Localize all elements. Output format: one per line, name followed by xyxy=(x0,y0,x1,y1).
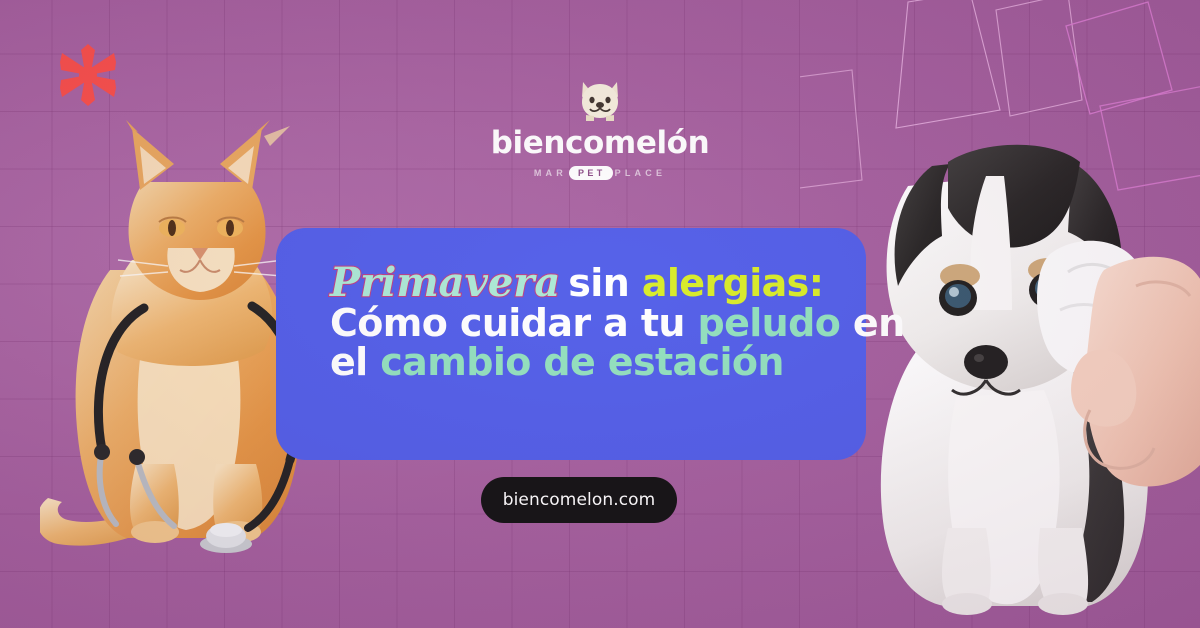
website-url-badge[interactable]: biencomelon.com xyxy=(481,477,677,523)
headline-script-word: Primavera xyxy=(330,259,560,306)
headline-line3-white: el xyxy=(330,340,368,384)
headline-line1-white: sin xyxy=(568,261,629,305)
brand-logo[interactable]: biencomelón MAR PET PLACE xyxy=(0,78,1200,180)
logo-tagline: MAR PET PLACE xyxy=(0,166,1200,180)
promo-banner: biencomelón MAR PET PLACE Primaverasin a… xyxy=(0,0,1200,628)
logo-wordmark: biencomelón xyxy=(0,128,1200,159)
bulldog-face-icon xyxy=(577,78,623,122)
headline-text: Primaverasin alergias: Cómo cuidar a tu … xyxy=(330,262,890,383)
headline-line-3: el cambio de estación xyxy=(330,343,890,383)
headline-line-2: Cómo cuidar a tu peludo en xyxy=(330,304,890,344)
url-text: biencomelon.com xyxy=(503,490,656,510)
headline-line-1: Primaverasin alergias: xyxy=(330,262,890,304)
tagline-after: PLACE xyxy=(615,168,667,178)
headline-line2-white-a: Cómo cuidar a tu xyxy=(330,301,685,345)
tagline-before: MAR xyxy=(534,168,567,178)
headline-line1-lime: alergias: xyxy=(642,261,823,305)
headline-line2-mint: peludo xyxy=(697,301,840,345)
headline-line2-white-b: en xyxy=(853,301,905,345)
tagline-pet-pill: PET xyxy=(569,166,613,180)
headline-line3-mint: cambio de estación xyxy=(380,340,784,384)
